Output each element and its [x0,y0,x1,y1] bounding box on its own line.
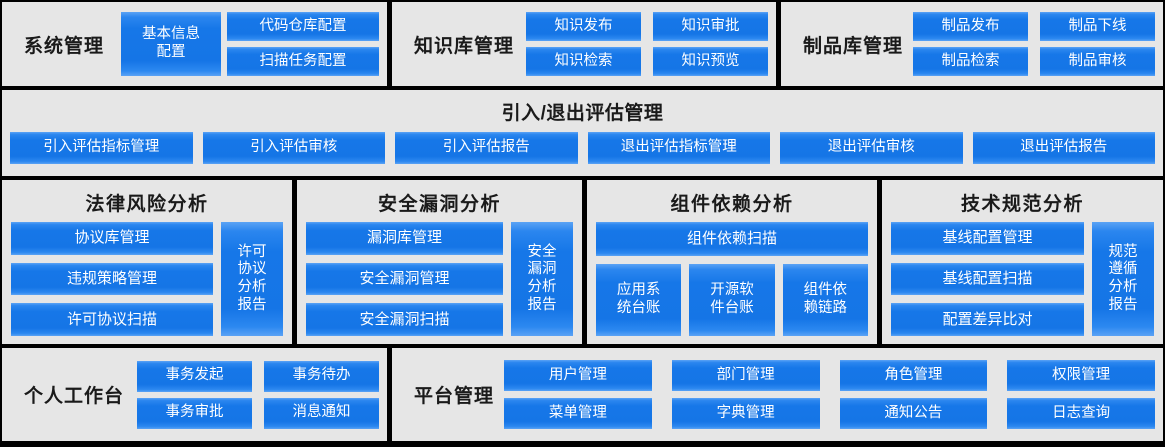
vulnerability-button-column: 漏洞库管理 安全漏洞管理 安全漏洞扫描 [306,222,503,336]
panel-title-system-management: 系统管理 [10,31,114,58]
knowledge-base-buttons: 知识发布 知识审批 知识检索 知识预览 [524,12,768,76]
button-intro-eval-report[interactable]: 引入评估报告 [395,132,578,164]
button-task-initiate[interactable]: 事务发起 [137,361,252,392]
panel-legal-risk-analysis: 法律风险分析 协议库管理 违规策略管理 许可协议扫描 许可 协议 分析 报告 [2,180,292,344]
panel-intro-exit-evaluation: 引入/退出评估管理 引入评估指标管理 引入评估审核 引入评估报告 退出评估指标管… [2,90,1163,176]
row-top: 系统管理 基本信息 配置 代码仓库配置 扫描任务配置 知识库管理 知识发布 [2,2,1163,86]
button-log-query[interactable]: 日志查询 [1007,398,1155,429]
dependency-button-row: 应用系 统台账 开源软 件台账 组件依 赖链路 [596,264,868,336]
vulnerability-body: 漏洞库管理 安全漏洞管理 安全漏洞扫描 安全 漏洞 分析 报告 [306,222,573,336]
artifact-repository-buttons: 制品发布 制品下线 制品检索 制品审核 [913,12,1155,76]
button-config-difference-comparison[interactable]: 配置差异比对 [891,303,1084,336]
button-component-dependency-chain[interactable]: 组件依 赖链路 [783,264,868,336]
button-notice-announcement[interactable]: 通知公告 [840,398,988,429]
row-evaluation: 引入/退出评估管理 引入评估指标管理 引入评估审核 引入评估报告 退出评估指标管… [2,90,1163,176]
button-artifact-offline[interactable]: 制品下线 [1040,12,1155,41]
button-basic-info-config[interactable]: 基本信息 配置 [121,12,221,76]
button-open-source-software-ledger[interactable]: 开源软 件台账 [689,264,774,336]
button-specification-compliance-report[interactable]: 规范 遵循 分析 报告 [1092,222,1154,336]
button-artifact-publish[interactable]: 制品发布 [913,12,1028,41]
architecture-board: 系统管理 基本信息 配置 代码仓库配置 扫描任务配置 知识库管理 知识发布 [0,0,1165,447]
button-department-management[interactable]: 部门管理 [672,360,820,391]
row-analysis: 法律风险分析 协议库管理 违规策略管理 许可协议扫描 许可 协议 分析 报告 安… [2,180,1163,344]
personal-workbench-buttons: 事务发起 事务待办 事务审批 消息通知 [134,361,379,429]
panel-technical-specification-analysis: 技术规范分析 基线配置管理 基线配置扫描 配置差异比对 规范 遵循 分析 报告 [882,180,1163,344]
button-license-agreement-scan[interactable]: 许可协议扫描 [11,303,213,336]
panel-title-component-dependency-analysis: 组件依赖分析 [596,186,868,222]
system-column-basic-info: 基本信息 配置 [121,12,221,76]
button-security-vulnerability-management[interactable]: 安全漏洞管理 [306,263,503,296]
system-management-buttons: 基本信息 配置 代码仓库配置 扫描任务配置 [114,12,379,76]
button-baseline-config-scan[interactable]: 基线配置扫描 [891,263,1084,296]
panel-security-vulnerability-analysis: 安全漏洞分析 漏洞库管理 安全漏洞管理 安全漏洞扫描 安全 漏洞 分析 报告 [297,180,582,344]
button-permission-management[interactable]: 权限管理 [1007,360,1155,391]
row-bottom: 个人工作台 事务发起 事务待办 事务审批 消息通知 平台管理 用户管理 部门管理… [2,348,1163,441]
button-exit-eval-metric-management[interactable]: 退出评估指标管理 [588,132,771,164]
button-task-todo[interactable]: 事务待办 [264,361,379,392]
button-knowledge-publish[interactable]: 知识发布 [526,12,641,41]
panel-title-technical-specification-analysis: 技术规范分析 [891,186,1154,222]
panel-title-intro-exit-evaluation: 引入/退出评估管理 [10,94,1155,132]
button-knowledge-search[interactable]: 知识检索 [526,47,641,76]
button-scan-task-config[interactable]: 扫描任务配置 [227,47,379,76]
technical-specification-button-column: 基线配置管理 基线配置扫描 配置差异比对 [891,222,1084,336]
button-message-notification[interactable]: 消息通知 [264,398,379,429]
panel-title-platform-management: 平台管理 [400,381,504,408]
button-task-approval[interactable]: 事务审批 [137,398,252,429]
panel-title-artifact-repository: 制品库管理 [789,31,913,58]
button-license-library-management[interactable]: 协议库管理 [11,222,213,255]
artifact-button-grid: 制品发布 制品下线 制品检索 制品审核 [913,12,1155,76]
button-artifact-search[interactable]: 制品检索 [913,47,1028,76]
knowledge-button-grid: 知识发布 知识审批 知识检索 知识预览 [526,12,768,76]
panel-system-management: 系统管理 基本信息 配置 代码仓库配置 扫描任务配置 [2,2,387,86]
legal-risk-body: 协议库管理 违规策略管理 许可协议扫描 许可 协议 分析 报告 [11,222,283,336]
panel-knowledge-base-management: 知识库管理 知识发布 知识审批 知识检索 知识预览 [392,2,776,86]
button-role-management[interactable]: 角色管理 [840,360,988,391]
button-knowledge-approval[interactable]: 知识审批 [653,12,768,41]
button-exit-eval-report[interactable]: 退出评估报告 [973,132,1156,164]
system-button-grid: 基本信息 配置 代码仓库配置 扫描任务配置 [114,12,379,76]
button-security-vulnerability-scan[interactable]: 安全漏洞扫描 [306,303,503,336]
button-application-system-ledger[interactable]: 应用系 统台账 [596,264,681,336]
button-code-repo-config[interactable]: 代码仓库配置 [227,12,379,41]
button-knowledge-preview[interactable]: 知识预览 [653,47,768,76]
button-component-dependency-scan[interactable]: 组件依赖扫描 [596,222,868,256]
panel-title-knowledge-base: 知识库管理 [400,31,524,58]
button-vulnerability-library-management[interactable]: 漏洞库管理 [306,222,503,255]
button-artifact-audit[interactable]: 制品审核 [1040,47,1155,76]
legal-risk-button-column: 协议库管理 违规策略管理 许可协议扫描 [11,222,213,336]
button-security-vulnerability-report[interactable]: 安全 漏洞 分析 报告 [511,222,573,336]
button-exit-eval-review[interactable]: 退出评估审核 [780,132,963,164]
platform-button-grid: 用户管理 部门管理 角色管理 权限管理 菜单管理 字典管理 通知公告 日志查询 [504,360,1155,429]
button-user-management[interactable]: 用户管理 [504,360,652,391]
panel-title-personal-workbench: 个人工作台 [10,381,134,408]
panel-platform-management: 平台管理 用户管理 部门管理 角色管理 权限管理 菜单管理 字典管理 通知公告 … [392,348,1163,441]
button-menu-management[interactable]: 菜单管理 [504,398,652,429]
button-intro-eval-metric-management[interactable]: 引入评估指标管理 [10,132,193,164]
dependency-body: 组件依赖扫描 应用系 统台账 开源软 件台账 组件依 赖链路 [596,222,868,336]
evaluation-buttons: 引入评估指标管理 引入评估审核 引入评估报告 退出评估指标管理 退出评估审核 退… [10,132,1155,164]
panel-component-dependency-analysis: 组件依赖分析 组件依赖扫描 应用系 统台账 开源软 件台账 组件依 赖链路 [587,180,877,344]
button-dictionary-management[interactable]: 字典管理 [672,398,820,429]
platform-management-buttons: 用户管理 部门管理 角色管理 权限管理 菜单管理 字典管理 通知公告 日志查询 [504,360,1155,429]
button-violation-policy-management[interactable]: 违规策略管理 [11,263,213,296]
panel-artifact-repository-management: 制品库管理 制品发布 制品下线 制品检索 制品审核 [781,2,1163,86]
technical-specification-body: 基线配置管理 基线配置扫描 配置差异比对 规范 遵循 分析 报告 [891,222,1154,336]
button-license-analysis-report[interactable]: 许可 协议 分析 报告 [221,222,283,336]
button-baseline-config-management[interactable]: 基线配置管理 [891,222,1084,255]
button-intro-eval-review[interactable]: 引入评估审核 [203,132,386,164]
panel-title-legal-risk-analysis: 法律风险分析 [11,186,283,222]
panel-title-security-vulnerability-analysis: 安全漏洞分析 [306,186,573,222]
personal-button-grid: 事务发起 事务待办 事务审批 消息通知 [137,361,379,429]
panel-personal-workbench: 个人工作台 事务发起 事务待办 事务审批 消息通知 [2,348,387,441]
system-column-config: 代码仓库配置 扫描任务配置 [227,12,379,76]
